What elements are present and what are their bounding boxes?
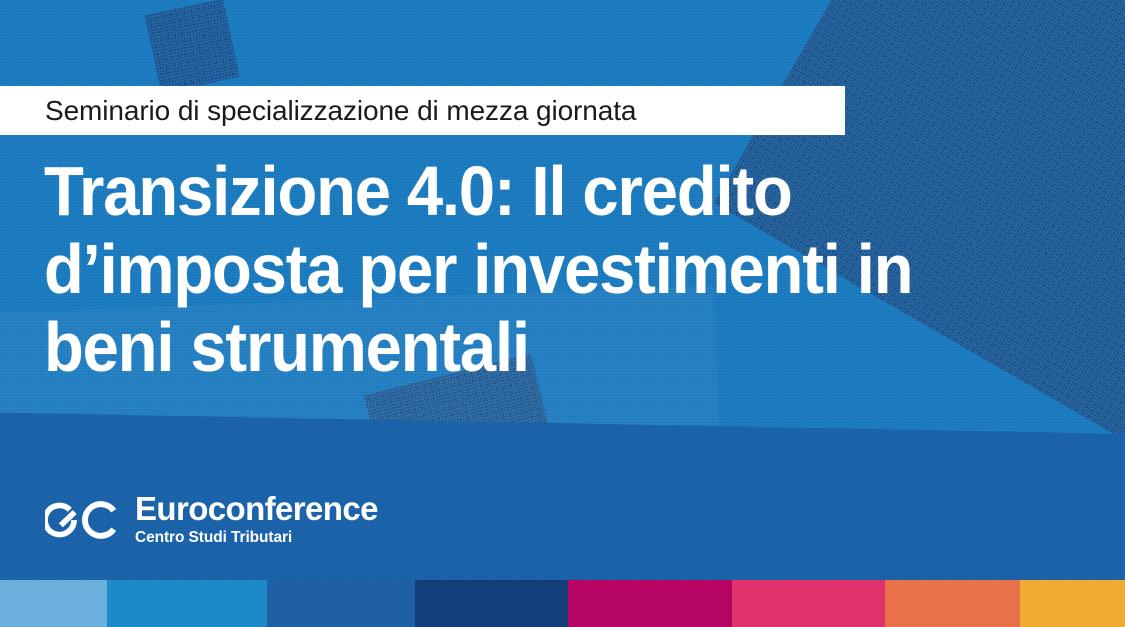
promo-banner: Seminario di specializzazione di mezza g… [0, 0, 1125, 627]
color-strip-segment-orange [885, 580, 1020, 627]
logo-tagline: Centro Studi Tributari [135, 528, 378, 548]
color-strip-segment-magenta [568, 580, 732, 627]
color-strip-segment-steel-blue [267, 580, 416, 627]
ec-monogram-icon [45, 496, 119, 544]
brand-color-strip [0, 580, 1125, 627]
color-strip-segment-amber [1020, 580, 1125, 627]
euroconference-logo: Euroconference Centro Studi Tributari [45, 492, 378, 548]
color-strip-segment-azure-blue [107, 580, 267, 627]
headline-line-3: beni strumentali [44, 308, 983, 386]
headline-line-2: d’imposta per investimenti in [44, 230, 983, 308]
eyebrow-label-text: Seminario di specializzazione di mezza g… [45, 95, 636, 127]
headline: Transizione 4.0: Il credito d’imposta pe… [44, 152, 983, 386]
decorative-square-top-left [145, 0, 240, 93]
eyebrow-label-box: Seminario di specializzazione di mezza g… [0, 86, 845, 135]
logo-wordmark: Euroconference Centro Studi Tributari [135, 492, 378, 548]
color-strip-segment-navy-blue [415, 580, 568, 627]
headline-line-1: Transizione 4.0: Il credito [44, 152, 983, 230]
logo-name: Euroconference [135, 492, 378, 526]
color-strip-segment-pink [732, 580, 885, 627]
color-strip-segment-light-blue [0, 580, 107, 627]
